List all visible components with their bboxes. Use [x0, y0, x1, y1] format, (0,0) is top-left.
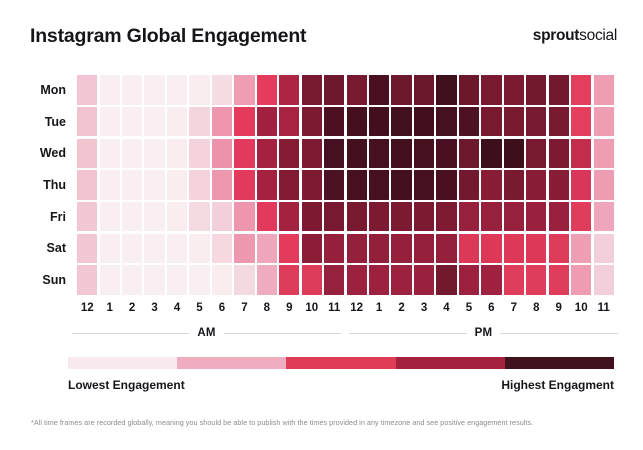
heatmap-cell	[144, 107, 164, 136]
heatmap-cell	[77, 234, 97, 263]
heatmap-cell	[571, 139, 591, 168]
hour-label: 10	[301, 302, 323, 314]
hour-label: 2	[121, 302, 143, 314]
day-label: Sat	[0, 233, 66, 265]
heatmap-cell	[122, 234, 142, 263]
heatmap-cell	[526, 202, 546, 231]
heatmap-cell	[504, 139, 524, 168]
heatmap-cell	[212, 265, 232, 294]
heatmap-cell	[594, 202, 614, 231]
heatmap-cell	[504, 170, 524, 199]
heatmap-cell	[549, 107, 569, 136]
heatmap-cell	[459, 139, 479, 168]
legend-segment	[286, 357, 395, 369]
heatmap-cell	[324, 139, 344, 168]
heatmap-cell	[189, 170, 209, 199]
heatmap-cell	[234, 75, 254, 104]
heatmap-cell	[324, 170, 344, 199]
heatmap-cell	[100, 139, 120, 168]
heatmap-cell	[549, 170, 569, 199]
heatmap-cell	[459, 170, 479, 199]
heatmap-cell	[100, 170, 120, 199]
heatmap-cell	[526, 75, 546, 104]
heatmap-cell	[189, 234, 209, 263]
hour-label: 8	[256, 302, 278, 314]
heatmap-cell	[347, 170, 367, 199]
heatmap-cell	[212, 75, 232, 104]
am-group: AM	[68, 327, 345, 339]
heatmap-cell	[279, 202, 299, 231]
heatmap-cell	[459, 265, 479, 294]
hour-label: 3	[143, 302, 165, 314]
header: Instagram Global Engagement sproutsocial	[30, 20, 617, 52]
heatmap-cell	[414, 265, 434, 294]
legend-high-label: Highest Engagment	[501, 378, 614, 392]
heatmap-cell	[481, 139, 501, 168]
heatmap-cell	[77, 170, 97, 199]
heatmap-cell	[302, 75, 322, 104]
heatmap-cell	[167, 265, 187, 294]
heatmap-cell	[391, 234, 411, 263]
legend-segment	[396, 357, 505, 369]
heatmap-cell	[347, 139, 367, 168]
heatmap-cell	[144, 139, 164, 168]
heatmap-cell	[144, 170, 164, 199]
hour-label: 11	[592, 302, 614, 314]
heatmap-cell	[324, 265, 344, 294]
heatmap-cell	[391, 170, 411, 199]
heatmap-cell	[257, 234, 277, 263]
heatmap-cell	[257, 202, 277, 231]
heatmap-cell	[167, 234, 187, 263]
heatmap-cell	[414, 75, 434, 104]
hour-label: 2	[390, 302, 412, 314]
heatmap-cell	[100, 234, 120, 263]
hour-label: 6	[211, 302, 233, 314]
heatmap-cell	[369, 170, 389, 199]
heatmap-cell	[549, 75, 569, 104]
heatmap-cell	[167, 202, 187, 231]
am-rule-left	[72, 333, 189, 334]
heatmap-cell	[594, 170, 614, 199]
heatmap-cell	[571, 107, 591, 136]
heatmap-cell	[77, 265, 97, 294]
footnote-text: *All time frames are recorded globally, …	[31, 419, 623, 428]
heatmap-cell	[571, 265, 591, 294]
heatmap-cell	[77, 139, 97, 168]
heatmap-cell	[302, 234, 322, 263]
heatmap-cell	[257, 170, 277, 199]
heatmap-cell	[77, 202, 97, 231]
heatmap-cell	[549, 265, 569, 294]
sprout-social-logo: sproutsocial	[533, 27, 617, 45]
heatmap-cell	[594, 265, 614, 294]
heatmap-cell	[257, 139, 277, 168]
heatmap-cell	[100, 265, 120, 294]
heatmap-cell	[436, 234, 456, 263]
heatmap-cell	[459, 234, 479, 263]
heatmap-cell	[526, 234, 546, 263]
hour-label: 7	[503, 302, 525, 314]
heatmap-cell	[100, 202, 120, 231]
heatmap-cell	[571, 202, 591, 231]
heatmap-cell	[122, 107, 142, 136]
hour-label: 3	[413, 302, 435, 314]
heatmap-cell	[369, 202, 389, 231]
heatmap-cell	[144, 75, 164, 104]
hour-label: 6	[480, 302, 502, 314]
hour-label: 4	[435, 302, 457, 314]
legend-segment	[505, 357, 614, 369]
heatmap-cell	[526, 170, 546, 199]
heatmap-cell	[167, 170, 187, 199]
hour-label: 12	[345, 302, 367, 314]
heatmap-cell	[212, 139, 232, 168]
heatmap-cell	[302, 202, 322, 231]
heatmap-cell	[234, 234, 254, 263]
am-label: AM	[197, 327, 215, 339]
heatmap-cell	[549, 139, 569, 168]
heatmap-cell	[167, 75, 187, 104]
heatmap-row	[76, 264, 615, 296]
day-axis: MonTueWedThuFriSatSun	[0, 74, 66, 296]
heatmap-cell	[189, 265, 209, 294]
heatmap-cell	[302, 170, 322, 199]
heatmap-cell	[369, 234, 389, 263]
heatmap-cell	[459, 202, 479, 231]
heatmap-cell	[347, 202, 367, 231]
heatmap-cell	[369, 139, 389, 168]
heatmap-cell	[481, 107, 501, 136]
logo-bold-text: sprout	[533, 27, 579, 44]
legend-color-bar	[68, 357, 614, 369]
heatmap-cell	[369, 265, 389, 294]
heatmap-cell	[144, 234, 164, 263]
pm-label: PM	[475, 327, 493, 339]
heatmap-cell	[144, 202, 164, 231]
heatmap-cell	[436, 202, 456, 231]
heatmap-cell	[279, 265, 299, 294]
pm-group: PM	[345, 327, 622, 339]
heatmap-cell	[212, 234, 232, 263]
heatmap-cell	[257, 107, 277, 136]
heatmap-cell	[302, 107, 322, 136]
day-label: Fri	[0, 201, 66, 233]
heatmap-cell	[279, 139, 299, 168]
heatmap-cell	[436, 265, 456, 294]
heatmap-cell	[234, 139, 254, 168]
hour-axis: 121234567891011121234567891011	[76, 302, 615, 314]
heatmap-cell	[212, 170, 232, 199]
heatmap-cell	[436, 139, 456, 168]
hour-label: 7	[233, 302, 255, 314]
heatmap-cell	[369, 75, 389, 104]
heatmap-cell	[257, 265, 277, 294]
hour-label: 1	[98, 302, 120, 314]
heatmap-cell	[504, 107, 524, 136]
heatmap-cell	[100, 107, 120, 136]
heatmap-cell	[347, 234, 367, 263]
heatmap-cell	[526, 107, 546, 136]
heatmap-row	[76, 137, 615, 169]
heatmap-cell	[189, 107, 209, 136]
infographic-card: Instagram Global Engagement sproutsocial…	[0, 0, 643, 450]
heatmap-cell	[391, 107, 411, 136]
heatmap-cell	[324, 234, 344, 263]
heatmap-cell	[391, 75, 411, 104]
heatmap-cell	[212, 202, 232, 231]
hour-label: 5	[458, 302, 480, 314]
heatmap-cell	[167, 107, 187, 136]
heatmap-cell	[212, 107, 232, 136]
day-label: Sun	[0, 264, 66, 296]
heatmap-cell	[279, 107, 299, 136]
hour-label: 1	[368, 302, 390, 314]
heatmap-cell	[279, 234, 299, 263]
heatmap-cell	[436, 75, 456, 104]
heatmap-cell	[122, 170, 142, 199]
heatmap-cell	[302, 139, 322, 168]
heatmap-cell	[504, 265, 524, 294]
pm-rule-left	[349, 333, 467, 334]
heatmap-cell	[234, 107, 254, 136]
heatmap-cell	[549, 202, 569, 231]
heatmap-cell	[234, 170, 254, 199]
heatmap-cell	[594, 107, 614, 136]
hour-label: 9	[278, 302, 300, 314]
heatmap-cell	[77, 75, 97, 104]
heatmap-cell	[481, 202, 501, 231]
hour-label: 11	[323, 302, 345, 314]
heatmap-row	[76, 74, 615, 106]
legend-low-label: Lowest Engagement	[68, 378, 185, 392]
heatmap-cell	[436, 107, 456, 136]
heatmap-cell	[481, 75, 501, 104]
hour-label: 8	[525, 302, 547, 314]
logo-light-text: social	[579, 27, 617, 44]
day-label: Tue	[0, 106, 66, 138]
heatmap-cell	[504, 202, 524, 231]
heatmap-cell	[481, 170, 501, 199]
heatmap-cell	[504, 234, 524, 263]
heatmap-cell	[347, 107, 367, 136]
heatmap-cell	[571, 75, 591, 104]
heatmap-cell	[391, 202, 411, 231]
hour-label: 12	[76, 302, 98, 314]
heatmap-cell	[122, 265, 142, 294]
heatmap-cell	[594, 75, 614, 104]
heatmap-cell	[459, 75, 479, 104]
am-rule-right	[224, 333, 341, 334]
day-label: Thu	[0, 169, 66, 201]
heatmap-cell	[414, 202, 434, 231]
heatmap-cell	[526, 139, 546, 168]
heatmap-cell	[414, 170, 434, 199]
heatmap-cell	[144, 265, 164, 294]
heatmap-cell	[369, 107, 389, 136]
ampm-axis: AM PM	[68, 327, 622, 339]
heatmap-cell	[122, 202, 142, 231]
heatmap-cell	[391, 265, 411, 294]
heatmap-cell	[189, 202, 209, 231]
heatmap-cell	[481, 265, 501, 294]
heatmap-cell	[571, 234, 591, 263]
heatmap-cell	[481, 234, 501, 263]
heatmap-cell	[324, 75, 344, 104]
heatmap-cell	[347, 265, 367, 294]
heatmap-cell	[100, 75, 120, 104]
heatmap-cell	[436, 170, 456, 199]
heatmap-cell	[324, 107, 344, 136]
heatmap-cell	[414, 139, 434, 168]
day-label: Mon	[0, 74, 66, 106]
legend-labels: Lowest Engagement Highest Engagment	[68, 378, 614, 392]
heatmap-cell	[504, 75, 524, 104]
hour-label: 5	[188, 302, 210, 314]
heatmap-cell	[189, 75, 209, 104]
heatmap-cell	[594, 234, 614, 263]
hour-label: 4	[166, 302, 188, 314]
heatmap-cell	[324, 202, 344, 231]
heatmap-cell	[234, 202, 254, 231]
heatmap-cell	[414, 107, 434, 136]
heatmap-row	[76, 201, 615, 233]
heatmap-cell	[257, 75, 277, 104]
heatmap-cell	[122, 139, 142, 168]
heatmap-cell	[571, 170, 591, 199]
heatmap-cell	[234, 265, 254, 294]
heatmap-cell	[391, 139, 411, 168]
pm-rule-right	[500, 333, 618, 334]
heatmap-cell	[122, 75, 142, 104]
heatmap-cell	[347, 75, 367, 104]
heatmap-cell	[414, 234, 434, 263]
day-label: Wed	[0, 137, 66, 169]
heatmap-cell	[549, 234, 569, 263]
hour-label: 10	[570, 302, 592, 314]
heatmap-row	[76, 106, 615, 138]
heatmap-cell	[279, 170, 299, 199]
heatmap-cell	[189, 139, 209, 168]
page-title: Instagram Global Engagement	[30, 25, 306, 48]
heatmap-row	[76, 169, 615, 201]
heatmap-row	[76, 233, 615, 265]
legend-segment	[177, 357, 286, 369]
heatmap-cell	[77, 107, 97, 136]
heatmap-cell	[594, 139, 614, 168]
heatmap-cell	[302, 265, 322, 294]
heatmap-cell	[167, 139, 187, 168]
heatmap-cell	[459, 107, 479, 136]
hour-label: 9	[548, 302, 570, 314]
heatmap-cell	[279, 75, 299, 104]
heatmap-cell	[526, 265, 546, 294]
heatmap-grid	[76, 74, 615, 296]
legend-segment	[68, 357, 177, 369]
